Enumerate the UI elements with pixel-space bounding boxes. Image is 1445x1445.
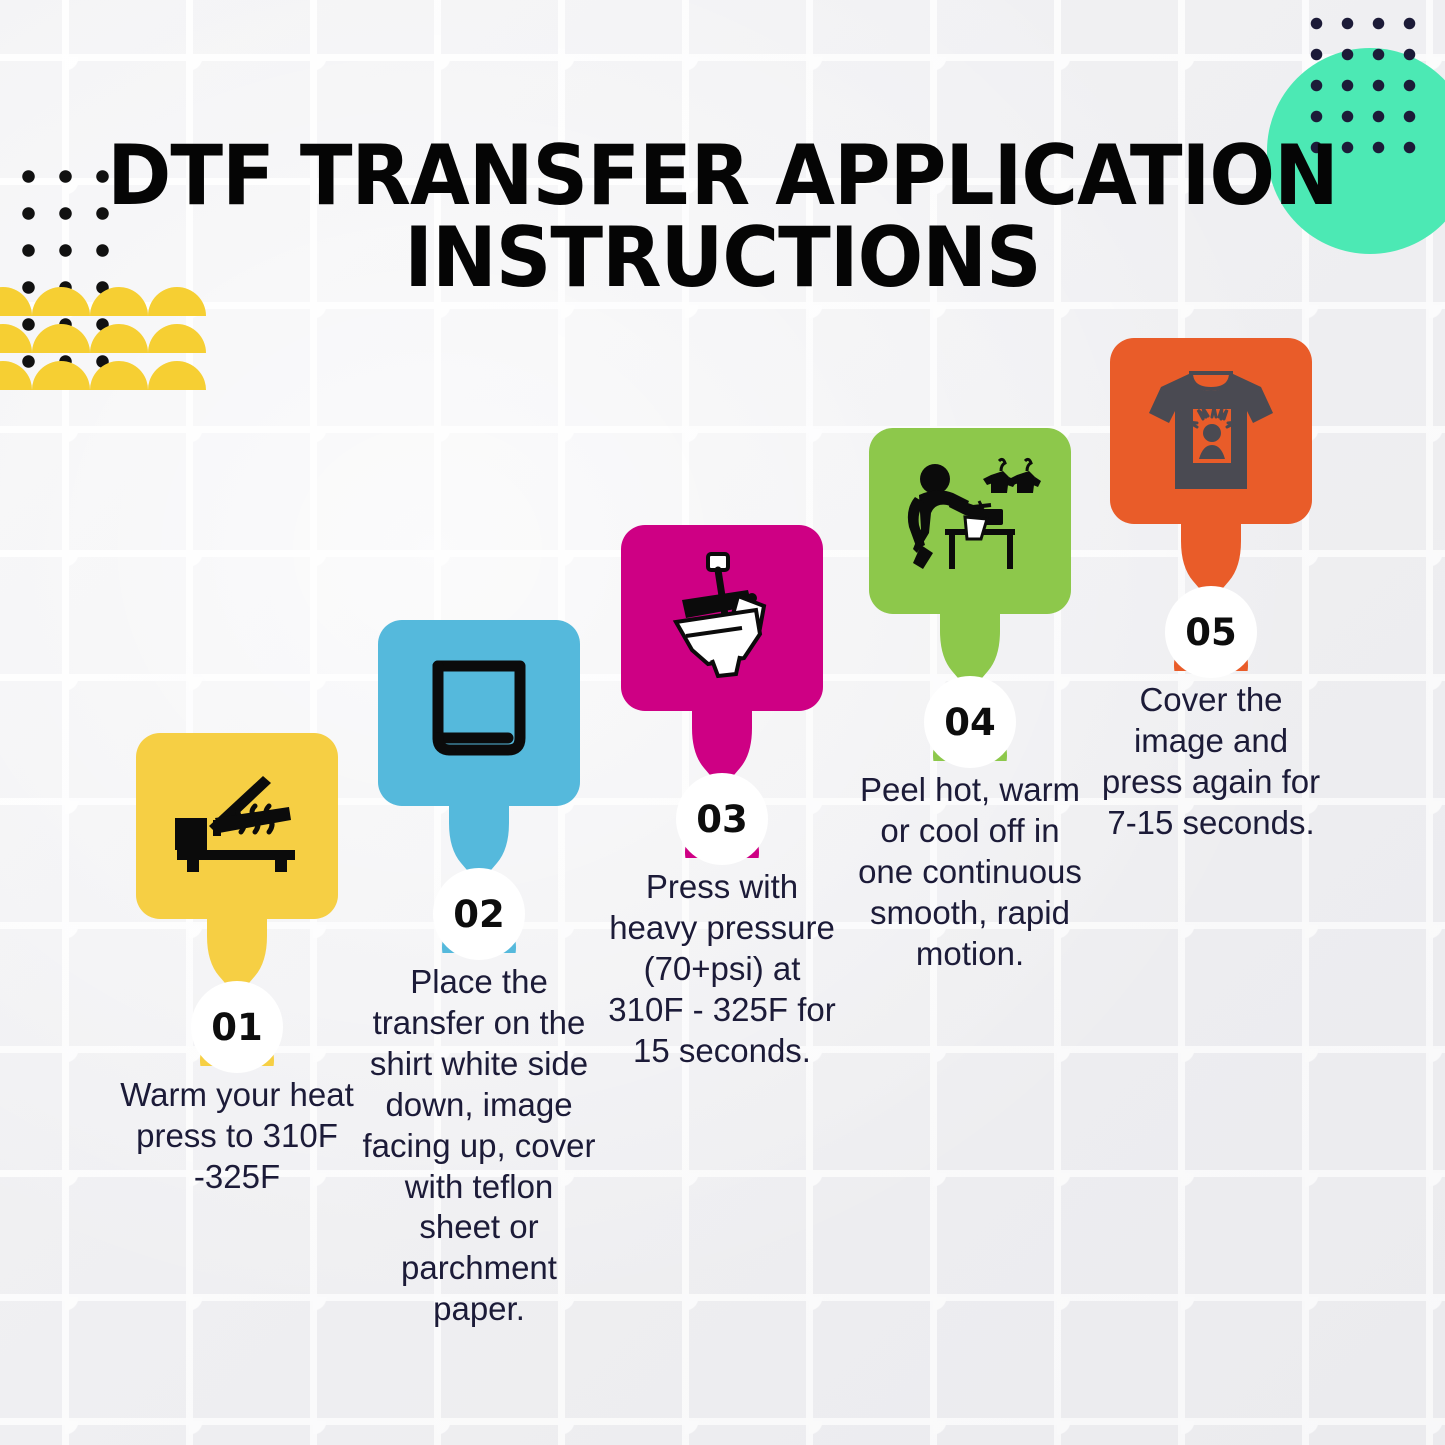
- step-01-caption: Warm your heat press to 310F -325F: [112, 1075, 362, 1198]
- person-peeling-transfer-icon: [895, 457, 1045, 585]
- step-01-icon-card: [136, 733, 338, 919]
- step-03-number: 03: [676, 773, 768, 865]
- step-item-01: 01 Warm your heat press to 310F -325F: [112, 733, 362, 1198]
- step-05-icon-card: [1110, 338, 1312, 524]
- step-item-03: 03 Press with heavy pressure (70+psi) at…: [597, 525, 847, 1072]
- heat-press-machine-icon: [652, 548, 792, 688]
- page-title: DTF TRANSFER APPLICATION INSTRUCTIONS: [0, 135, 1445, 299]
- step-02-icon-card: [378, 620, 580, 806]
- step-05-caption: Cover the image and press again for 7-15…: [1086, 680, 1336, 844]
- step-04-icon-card: [869, 428, 1071, 614]
- title-line-2: INSTRUCTIONS: [51, 217, 1395, 299]
- transfer-sheet-icon: [420, 654, 538, 772]
- step-03-icon-card: [621, 525, 823, 711]
- step-04-caption: Peel hot, warm or cool off in one contin…: [845, 770, 1095, 975]
- step-02-caption: Place the transfer on the shirt white si…: [354, 962, 604, 1330]
- step-01-connector: 01: [112, 919, 362, 1061]
- heat-press-open-icon: [171, 774, 303, 878]
- step-02-number: 02: [433, 868, 525, 960]
- step-item-02: 02 Place the transfer on the shirt white…: [354, 620, 604, 1330]
- title-line-1: DTF TRANSFER APPLICATION: [51, 135, 1395, 217]
- step-item-04: 04 Peel hot, warm or cool off in one con…: [845, 428, 1095, 975]
- step-02-connector: 02: [354, 806, 604, 948]
- step-item-05: 05 Cover the image and press again for 7…: [1086, 338, 1336, 844]
- step-01-number: 01: [191, 981, 283, 1073]
- step-04-connector: 04: [845, 614, 1095, 756]
- step-03-connector: 03: [597, 711, 847, 853]
- step-04-number: 04: [924, 676, 1016, 768]
- printed-tshirt-icon: [1143, 367, 1279, 495]
- step-03-caption: Press with heavy pressure (70+psi) at 31…: [597, 867, 847, 1072]
- step-05-number: 05: [1165, 586, 1257, 678]
- step-05-connector: 05: [1086, 524, 1336, 666]
